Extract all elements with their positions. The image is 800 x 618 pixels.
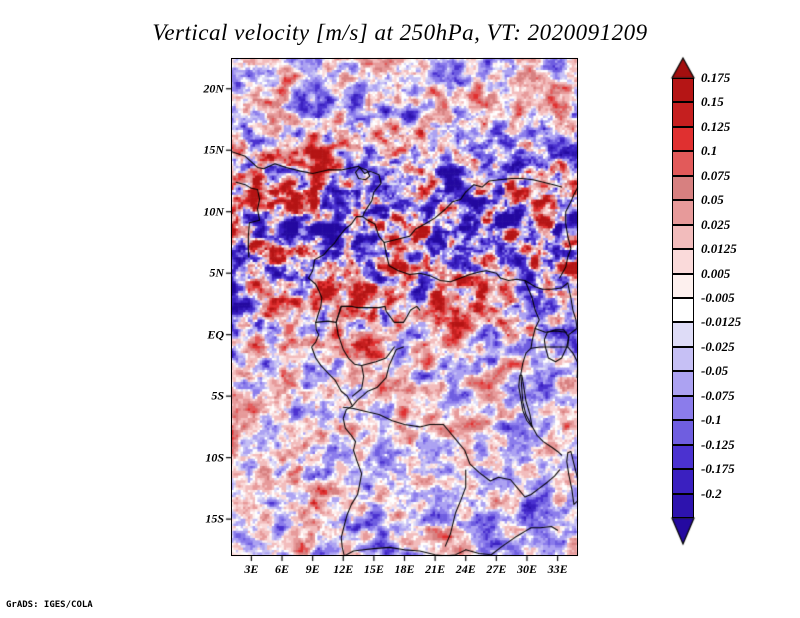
colorbar-label: 0.025: [701, 217, 730, 233]
colorbar-label: 0.0125: [701, 241, 737, 257]
colorbar-cell[interactable]: [672, 225, 694, 249]
x-tick-label: 3E: [244, 562, 258, 577]
x-tick-label: 30E: [517, 562, 537, 577]
colorbar-cell[interactable]: [672, 274, 694, 298]
colorbar-cell[interactable]: [672, 347, 694, 371]
colorbar-label: -0.2: [701, 486, 722, 502]
colorbar-cell[interactable]: [672, 78, 694, 102]
map-plot-area[interactable]: [231, 58, 578, 556]
y-tick-label: 10S: [186, 450, 224, 465]
colorbar-label: -0.0125: [701, 314, 741, 330]
colorbar-cell[interactable]: [672, 322, 694, 346]
colorbar-label: -0.025: [701, 339, 735, 355]
colorbar-cell[interactable]: [672, 151, 694, 175]
colorbar-label: -0.005: [701, 290, 735, 306]
x-tick-label: 9E: [306, 562, 320, 577]
y-tick-label: 10N: [186, 204, 224, 219]
colorbar-cell[interactable]: [672, 371, 694, 395]
colorbar-cell[interactable]: [672, 298, 694, 322]
colorbar-label: -0.1: [701, 412, 722, 428]
grads-credit: GrADS: IGES/COLA: [6, 600, 93, 610]
page-title: Vertical velocity [m/s] at 250hPa, VT: 2…: [0, 20, 800, 46]
colorbar-cell[interactable]: [672, 396, 694, 420]
x-tick-label: 6E: [275, 562, 289, 577]
colorbar-label: 0.175: [701, 70, 730, 86]
colorbar-cell[interactable]: [672, 420, 694, 444]
colorbar-label: 0.075: [701, 168, 730, 184]
colorbar-label: 0.05: [701, 192, 724, 208]
y-tick-label: 15N: [186, 143, 224, 158]
x-tick-label: 33E: [548, 562, 568, 577]
colorbar-label: -0.075: [701, 388, 735, 404]
colorbar-label: -0.175: [701, 461, 735, 477]
y-tick-label: EQ: [186, 327, 224, 342]
y-tick-label: 15S: [186, 512, 224, 527]
colorbar-cell[interactable]: [672, 469, 694, 493]
colorbar-label: 0.005: [701, 266, 730, 282]
y-tick-label: 20N: [186, 81, 224, 96]
y-tick-label: 5N: [186, 266, 224, 281]
x-tick-label: 18E: [394, 562, 414, 577]
colorbar-label: -0.05: [701, 363, 728, 379]
colorbar-cell[interactable]: [672, 127, 694, 151]
colorbar-cell[interactable]: [672, 176, 694, 200]
colorbar-cell[interactable]: [672, 494, 694, 518]
colorbar-cell[interactable]: [672, 249, 694, 273]
colorbar-label: 0.15: [701, 94, 724, 110]
colorbar-cell[interactable]: [672, 102, 694, 126]
colorbar-label: -0.125: [701, 437, 735, 453]
map-frame: [231, 58, 578, 556]
colorbar-label: 0.1: [701, 143, 717, 159]
y-tick-label: 5S: [186, 389, 224, 404]
x-tick-label: 21E: [425, 562, 445, 577]
colorbar-label: 0.125: [701, 119, 730, 135]
x-tick-label: 15E: [364, 562, 384, 577]
x-tick-label: 24E: [456, 562, 476, 577]
colorbar-cell[interactable]: [672, 445, 694, 469]
colorbar-cell[interactable]: [672, 200, 694, 224]
x-tick-label: 27E: [486, 562, 506, 577]
x-tick-label: 12E: [333, 562, 353, 577]
